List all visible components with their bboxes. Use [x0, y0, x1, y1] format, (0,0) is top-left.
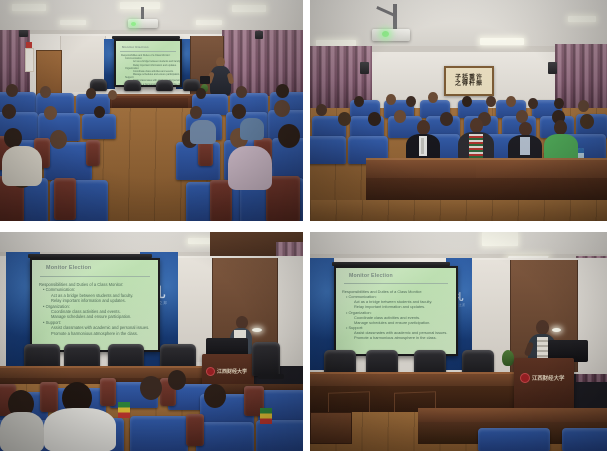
- audience-member: [458, 118, 494, 162]
- photo-top-left: Monitor Election Responsibilities and Du…: [0, 0, 303, 221]
- slide-body: Responsibilities and Duties of a Class M…: [342, 289, 447, 341]
- ceiling-projector: [372, 29, 410, 41]
- audience-member: [508, 122, 542, 162]
- photo-bottom-left: 礼 礼仪之邦 Monitor Election Responsibilities…: [0, 232, 303, 451]
- slide-title: Monitor Election: [46, 265, 91, 271]
- audience-member: [406, 120, 440, 162]
- slide-title: Monitor Election: [349, 273, 393, 279]
- institution-name: 江西财经大学: [532, 374, 564, 382]
- institution-name: 江西财经大学: [217, 368, 247, 375]
- calligraphy-plaque: 子括重许 之得杆振: [444, 66, 494, 96]
- university-seal-icon: [206, 367, 215, 376]
- photo-collage: Monitor Election Responsibilities and Du…: [0, 0, 607, 451]
- university-seal-icon: [520, 373, 530, 383]
- projection-screen: Monitor Election Responsibilities and Du…: [30, 258, 160, 352]
- audience-member: [544, 120, 578, 162]
- podium-nameplate: 江西财经大学: [520, 372, 572, 384]
- projection-screen: Monitor Election Responsibilities and Du…: [114, 39, 182, 87]
- photo-bottom-right: 礼 礼仪之邦 Monitor Election Responsibilities…: [310, 232, 607, 451]
- slide-point: Assist classmates with academic and pers…: [39, 325, 149, 330]
- projection-screen: Monitor Election Responsibilities and Du…: [334, 266, 458, 356]
- podium-nameplate: 江西财经大学: [206, 366, 252, 377]
- flag-icon: [260, 408, 272, 424]
- calligraphy-text: 子括重许 之得杆振: [455, 75, 483, 87]
- slide-point: Promote a harmonious atmosphere in the c…: [39, 331, 149, 336]
- slide-title: Monitor Election: [122, 45, 149, 49]
- slide-body: Responsibilities and Duties of a Class M…: [39, 282, 149, 336]
- slide-point: Promote a harmonious atmosphere in the c…: [342, 335, 447, 340]
- photo-top-right: 子括重许 之得杆振: [310, 0, 607, 221]
- flag-icon: [118, 402, 130, 418]
